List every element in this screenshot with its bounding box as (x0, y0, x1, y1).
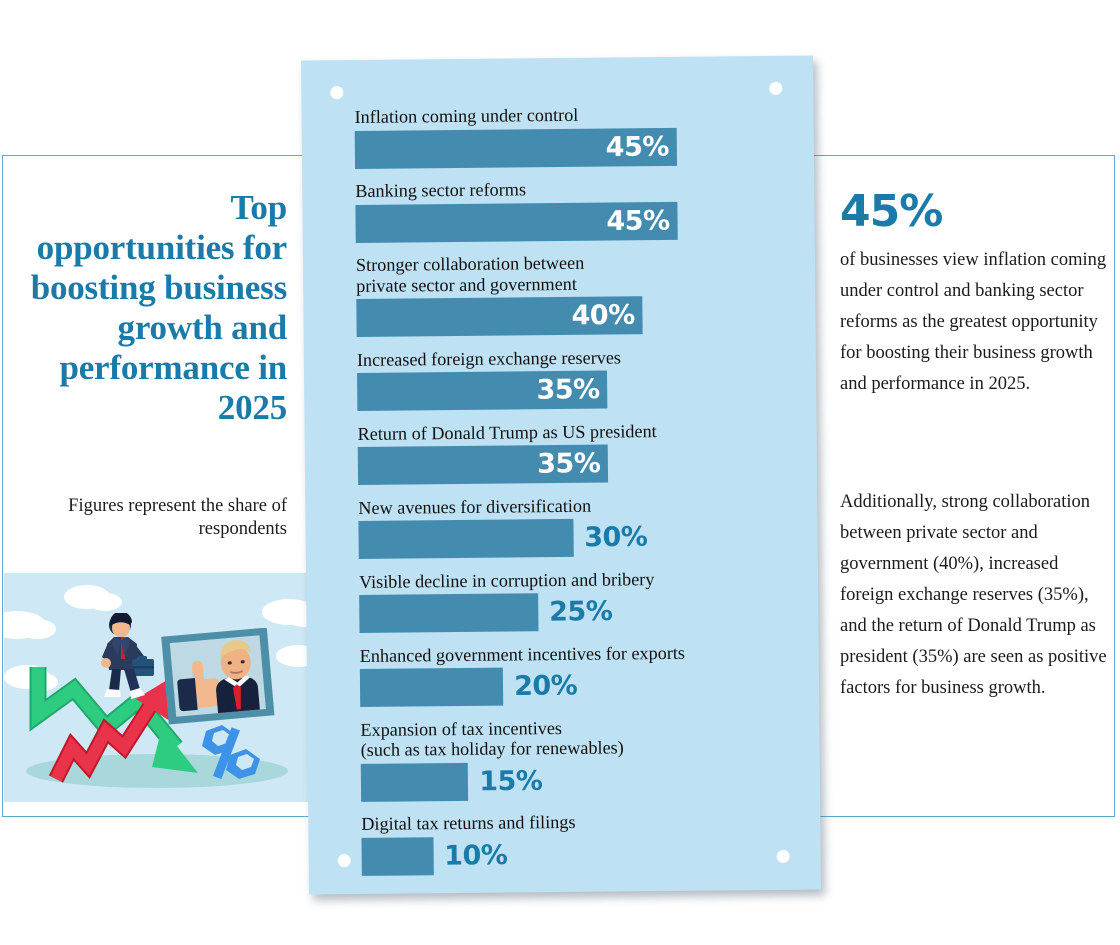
bar-track: 30% (358, 517, 778, 559)
bar-label: Increased foreign exchange reserves (357, 345, 777, 370)
bar-track: 40% (356, 295, 776, 337)
bar-label: Visible decline in corruption and briber… (359, 567, 779, 592)
bar-value: 25% (549, 598, 612, 626)
cloud-icon (88, 593, 122, 611)
highlight-statistic: 45% (840, 190, 942, 234)
bar-row: Return of Donald Trump as US president35… (357, 419, 778, 485)
bar-value: 10% (444, 842, 507, 870)
corner-dot (769, 82, 782, 95)
business-growth-illustration (4, 573, 309, 802)
bar-fill: 35% (358, 445, 609, 485)
bar-fill (361, 762, 469, 801)
bar-row: Increased foreign exchange reserves35% (357, 345, 778, 411)
page-title: Top opportunities for boosting business … (27, 188, 287, 428)
bar-fill (360, 668, 503, 707)
bar-value: 15% (479, 767, 542, 795)
bar-track: 15% (361, 759, 781, 801)
bar-value: 45% (606, 133, 669, 161)
bar-row: New avenues for diversification30% (358, 493, 779, 559)
bar-label: Stronger collaboration between private s… (356, 251, 776, 296)
summary-paragraph-2: Additionally, strong collaboration betwe… (840, 487, 1112, 704)
bar-track: 45% (355, 200, 775, 242)
bar-fill: 35% (357, 371, 608, 411)
cloud-icon (276, 645, 309, 667)
bar-row: Banking sector reforms45% (355, 177, 776, 243)
chart-subtitle: Figures represent the share of responden… (37, 495, 287, 541)
percent-sign-icon (200, 723, 262, 781)
bar-label: New avenues for diversification (358, 493, 778, 518)
bar-row: Stronger collaboration between private s… (356, 251, 777, 337)
bar-track: 10% (361, 833, 781, 875)
bar-value: 20% (514, 672, 577, 700)
summary-paragraph-1: of businesses view inflation coming unde… (840, 245, 1108, 400)
bar-value: 35% (536, 376, 599, 404)
corner-dot (330, 86, 343, 99)
bar-label: Return of Donald Trump as US president (357, 419, 777, 444)
corner-dot (338, 854, 351, 867)
bar-value: 35% (537, 450, 600, 478)
bar-value: 45% (606, 207, 669, 235)
bar-fill: 45% (355, 127, 677, 168)
cloud-icon (18, 619, 56, 639)
bar-fill (361, 837, 433, 876)
businessman-icon (90, 613, 162, 715)
bar-track: 25% (359, 591, 779, 633)
bar-track: 45% (355, 126, 775, 168)
bar-label: Banking sector reforms (355, 177, 775, 202)
chart-card: Inflation coming under control45%Banking… (301, 56, 821, 895)
bar-row: Visible decline in corruption and briber… (359, 567, 780, 633)
bar-fill (359, 593, 538, 633)
bar-row: Expansion of tax incentives (such as tax… (360, 715, 781, 801)
bar-label: Inflation coming under control (354, 103, 774, 128)
bar-row: Inflation coming under control45% (354, 103, 775, 169)
right-column: 45% of businesses view inflation coming … (818, 157, 1115, 815)
bar-value: 40% (571, 302, 634, 330)
bar-label: Digital tax returns and filings (361, 810, 781, 835)
bar-track: 20% (360, 665, 780, 707)
bar-label: Enhanced government incentives for expor… (360, 641, 780, 666)
bar-label: Expansion of tax incentives (such as tax… (360, 715, 780, 760)
bar-value: 30% (584, 524, 647, 552)
bar-row: Digital tax returns and filings10% (361, 810, 782, 876)
bar-fill (358, 519, 573, 559)
bar-track: 35% (357, 369, 777, 411)
left-column: Top opportunities for boosting business … (4, 157, 309, 815)
bar-fill: 40% (356, 296, 643, 337)
bar-chart: Inflation coming under control45%Banking… (354, 103, 781, 888)
bar-row: Enhanced government incentives for expor… (360, 641, 781, 707)
bar-track: 35% (358, 443, 778, 485)
bar-fill: 45% (355, 201, 677, 242)
framed-photo-icon (159, 628, 277, 728)
